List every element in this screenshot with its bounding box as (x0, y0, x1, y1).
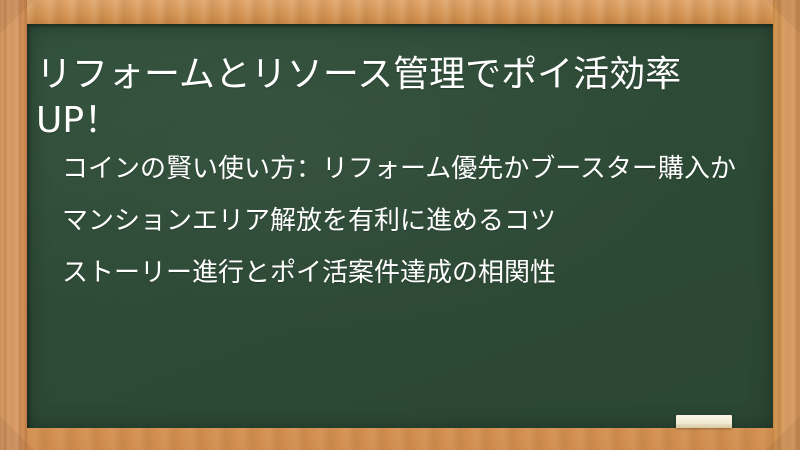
list-item: ストーリー進行とポイ活案件達成の相関性 (62, 254, 742, 292)
blackboard-surface: リフォームとリソース管理でポイ活効率UP！ コインの賢い使い方：リフォーム優先か… (27, 24, 773, 428)
list-item: マンションエリア解放を有利に進めるコツ (62, 202, 742, 240)
frame-right-rail (773, 0, 800, 450)
frame-left-rail (0, 0, 27, 450)
list-item: コインの賢い使い方：リフォーム優先かブースター購入か (62, 150, 742, 188)
slide-bullet-list: コインの賢い使い方：リフォーム優先かブースター購入か マンションエリア解放を有利… (62, 150, 742, 306)
chalk-eraser-icon (676, 415, 732, 428)
slide-title: リフォームとリソース管理でポイ活効率UP！ (36, 52, 748, 144)
slide-screen: リフォームとリソース管理でポイ活効率UP！ コインの賢い使い方：リフォーム優先か… (0, 0, 800, 450)
frame-bottom-ledge (0, 427, 800, 450)
chalk-eraser-felt (676, 424, 732, 428)
frame-top-rail (0, 0, 800, 24)
